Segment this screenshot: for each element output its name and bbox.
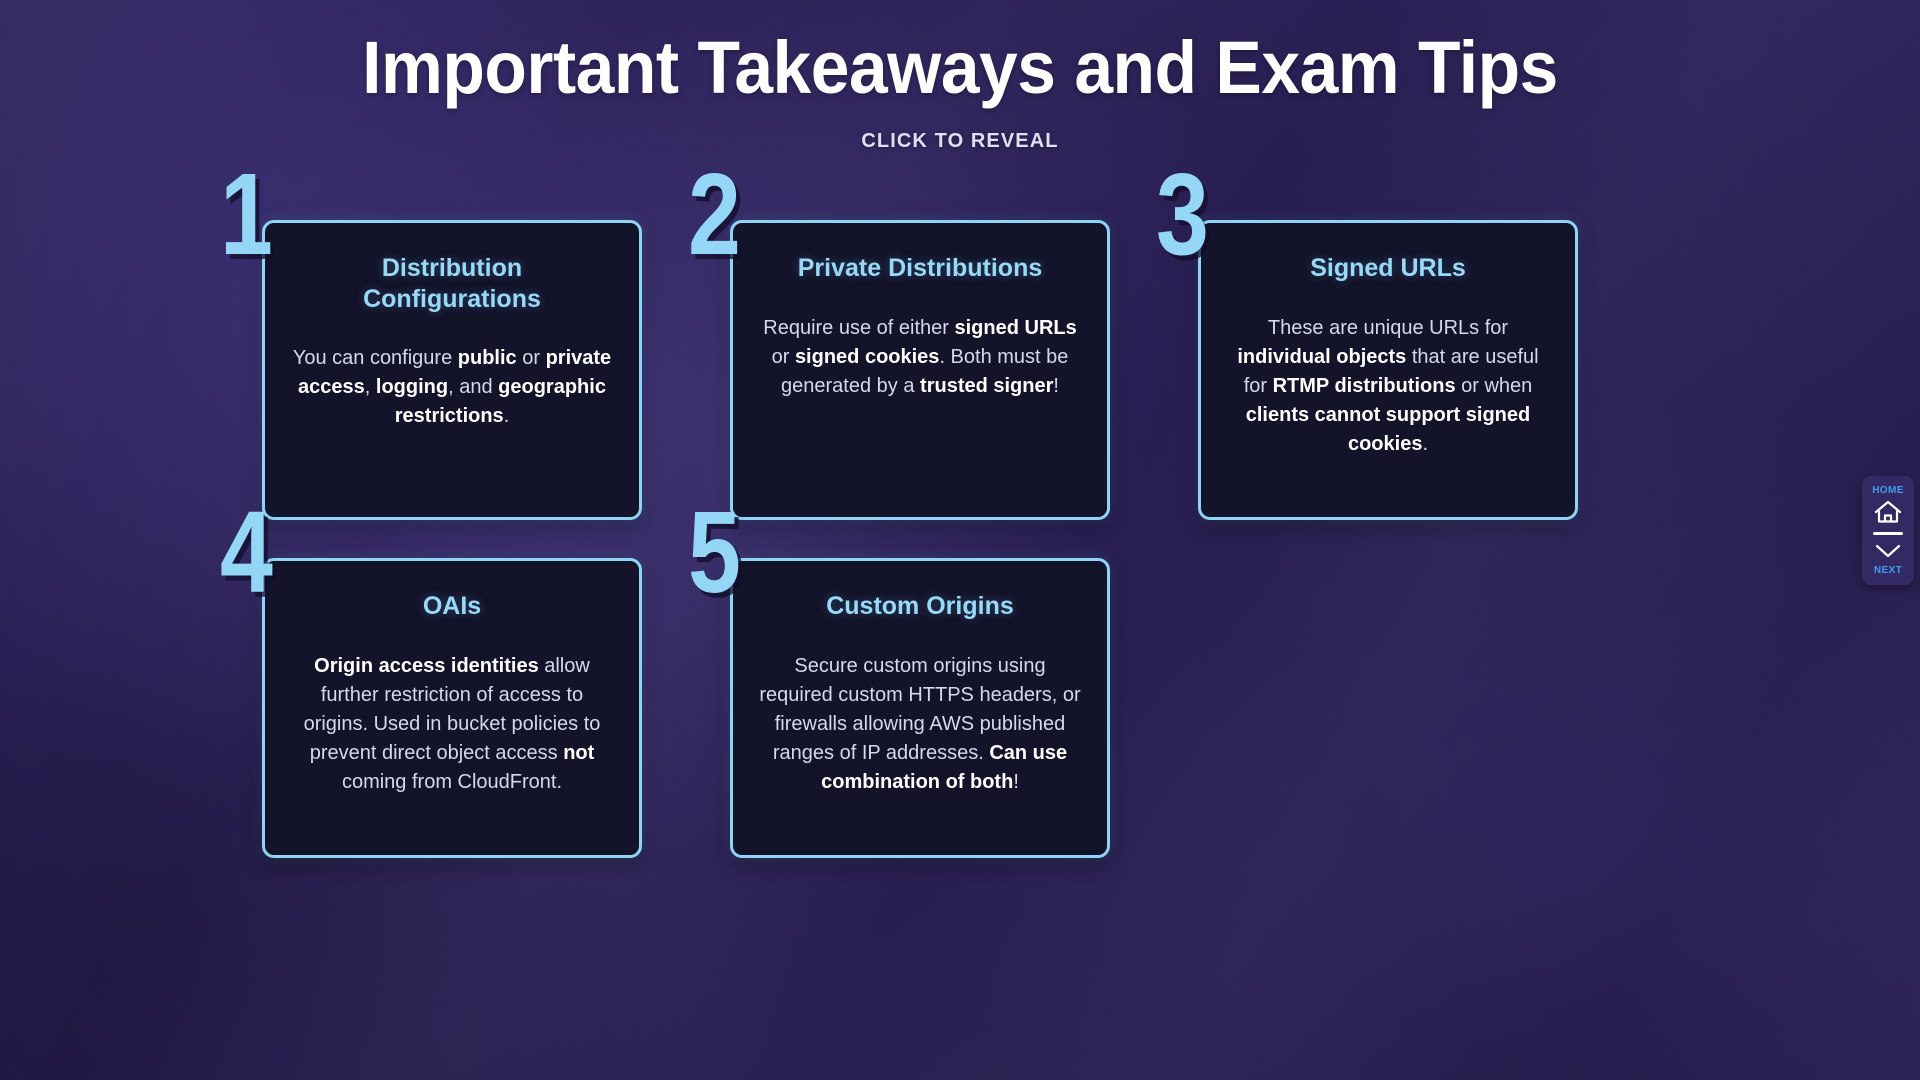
card-wrapper-5: 5 Custom Origins Secure custom origins u… — [730, 558, 1110, 858]
home-button[interactable]: HOME — [1862, 485, 1914, 525]
takeaway-card-5[interactable]: Custom Origins Secure custom origins usi… — [730, 558, 1110, 858]
card-heading-1: Distribution Configurations — [291, 253, 613, 314]
card-heading-3: Signed URLs — [1227, 253, 1549, 284]
next-button[interactable]: NEXT — [1862, 541, 1914, 576]
card-wrapper-1: 1 Distribution Configurations You can co… — [262, 220, 642, 520]
card-wrapper-3: 3 Signed URLs These are unique URLs for … — [1198, 220, 1578, 520]
home-icon — [1873, 499, 1903, 525]
page-header: Important Takeaways and Exam Tips CLICK … — [0, 0, 1920, 153]
card-row-2: 4 OAIs Origin access identities allow fu… — [262, 558, 1622, 858]
next-label: NEXT — [1862, 565, 1914, 576]
card-body-2: Require use of either signed URLs or sig… — [759, 314, 1081, 402]
card-row-1: 1 Distribution Configurations You can co… — [262, 220, 1622, 520]
navigation-widget: HOME NEXT — [1862, 476, 1914, 585]
card-body-3: These are unique URLs for individual obj… — [1227, 314, 1549, 460]
card-body-5: Secure custom origins using required cus… — [759, 652, 1081, 798]
home-label: HOME — [1862, 485, 1914, 496]
card-body-4: Origin access identities allow further r… — [291, 652, 613, 798]
takeaway-card-1[interactable]: Distribution Configurations You can conf… — [262, 220, 642, 520]
card-body-1: You can configure public or private acce… — [291, 344, 613, 432]
takeaway-card-3[interactable]: Signed URLs These are unique URLs for in… — [1198, 220, 1578, 520]
card-heading-4: OAIs — [291, 591, 613, 622]
chevron-down-icon — [1873, 541, 1903, 561]
nav-divider — [1873, 532, 1903, 535]
card-heading-5: Custom Origins — [759, 591, 1081, 622]
card-heading-2: Private Distributions — [759, 253, 1081, 284]
card-wrapper-4: 4 OAIs Origin access identities allow fu… — [262, 558, 642, 858]
page-title: Important Takeaways and Exam Tips — [58, 28, 1863, 108]
page-subtitle: CLICK TO REVEAL — [0, 130, 1920, 153]
card-wrapper-2: 2 Private Distributions Require use of e… — [730, 220, 1110, 520]
takeaway-card-2[interactable]: Private Distributions Require use of eit… — [730, 220, 1110, 520]
takeaway-card-4[interactable]: OAIs Origin access identities allow furt… — [262, 558, 642, 858]
takeaways-grid: 1 Distribution Configurations You can co… — [262, 220, 1622, 896]
